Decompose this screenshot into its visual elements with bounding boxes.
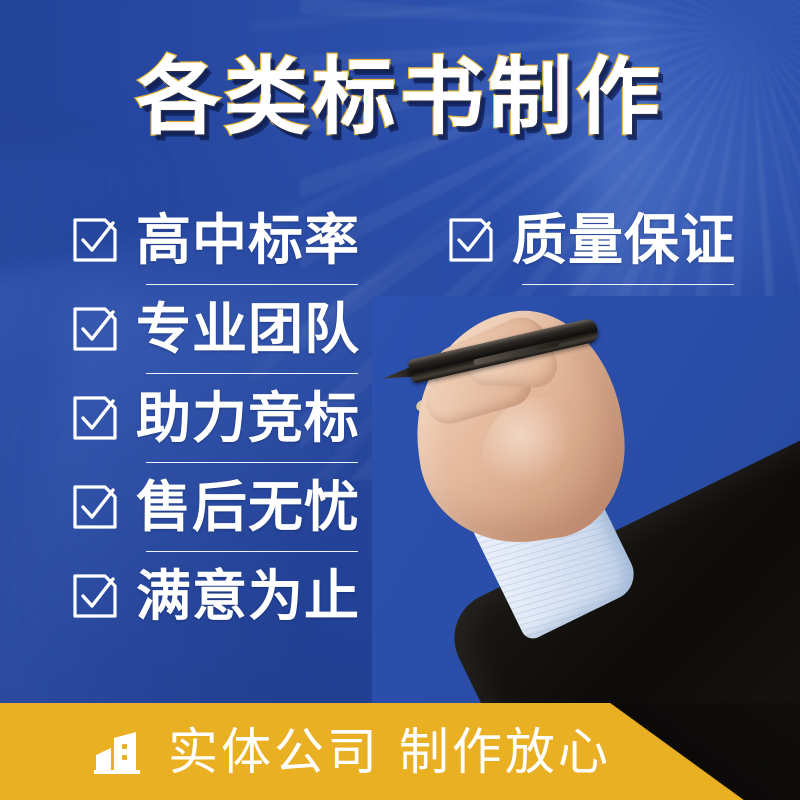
feature-item-4: 满意为止 xyxy=(72,552,402,640)
feature-label: 专业团队 xyxy=(136,302,360,357)
hand-with-pen-photo xyxy=(372,296,800,716)
bottom-banner-text: 实体公司 制作放心 xyxy=(168,727,611,777)
feature-label: 高中标率 xyxy=(136,213,360,268)
bottom-banner-content: 实体公司 制作放心 xyxy=(92,703,611,800)
feature-list-right: 质量保证 xyxy=(448,196,778,285)
feature-item-right-0: 质量保证 xyxy=(448,196,778,284)
checkbox-checked-icon xyxy=(72,484,118,530)
feature-item-3: 售后无忧 xyxy=(72,463,402,551)
checkbox-checked-icon xyxy=(448,217,494,263)
feature-list-left: 高中标率 专业团队 助力竞标 xyxy=(72,196,402,640)
feature-label: 满意为止 xyxy=(136,569,360,624)
checkbox-checked-icon xyxy=(72,306,118,352)
feature-item-1: 专业团队 xyxy=(72,285,402,373)
poster-canvas: 各类标书制作 各类标书制作 高中标率 专业团队 xyxy=(0,0,800,800)
feature-label: 质量保证 xyxy=(512,213,736,268)
feature-item-0: 高中标率 xyxy=(72,196,402,284)
checkbox-checked-icon xyxy=(72,573,118,619)
feature-label: 助力竞标 xyxy=(136,391,360,446)
feature-item-2: 助力竞标 xyxy=(72,374,402,462)
checkbox-checked-icon xyxy=(72,217,118,263)
building-icon xyxy=(92,724,148,780)
feature-label: 售后无忧 xyxy=(136,480,360,535)
checkbox-checked-icon xyxy=(72,395,118,441)
feature-divider xyxy=(522,284,734,285)
